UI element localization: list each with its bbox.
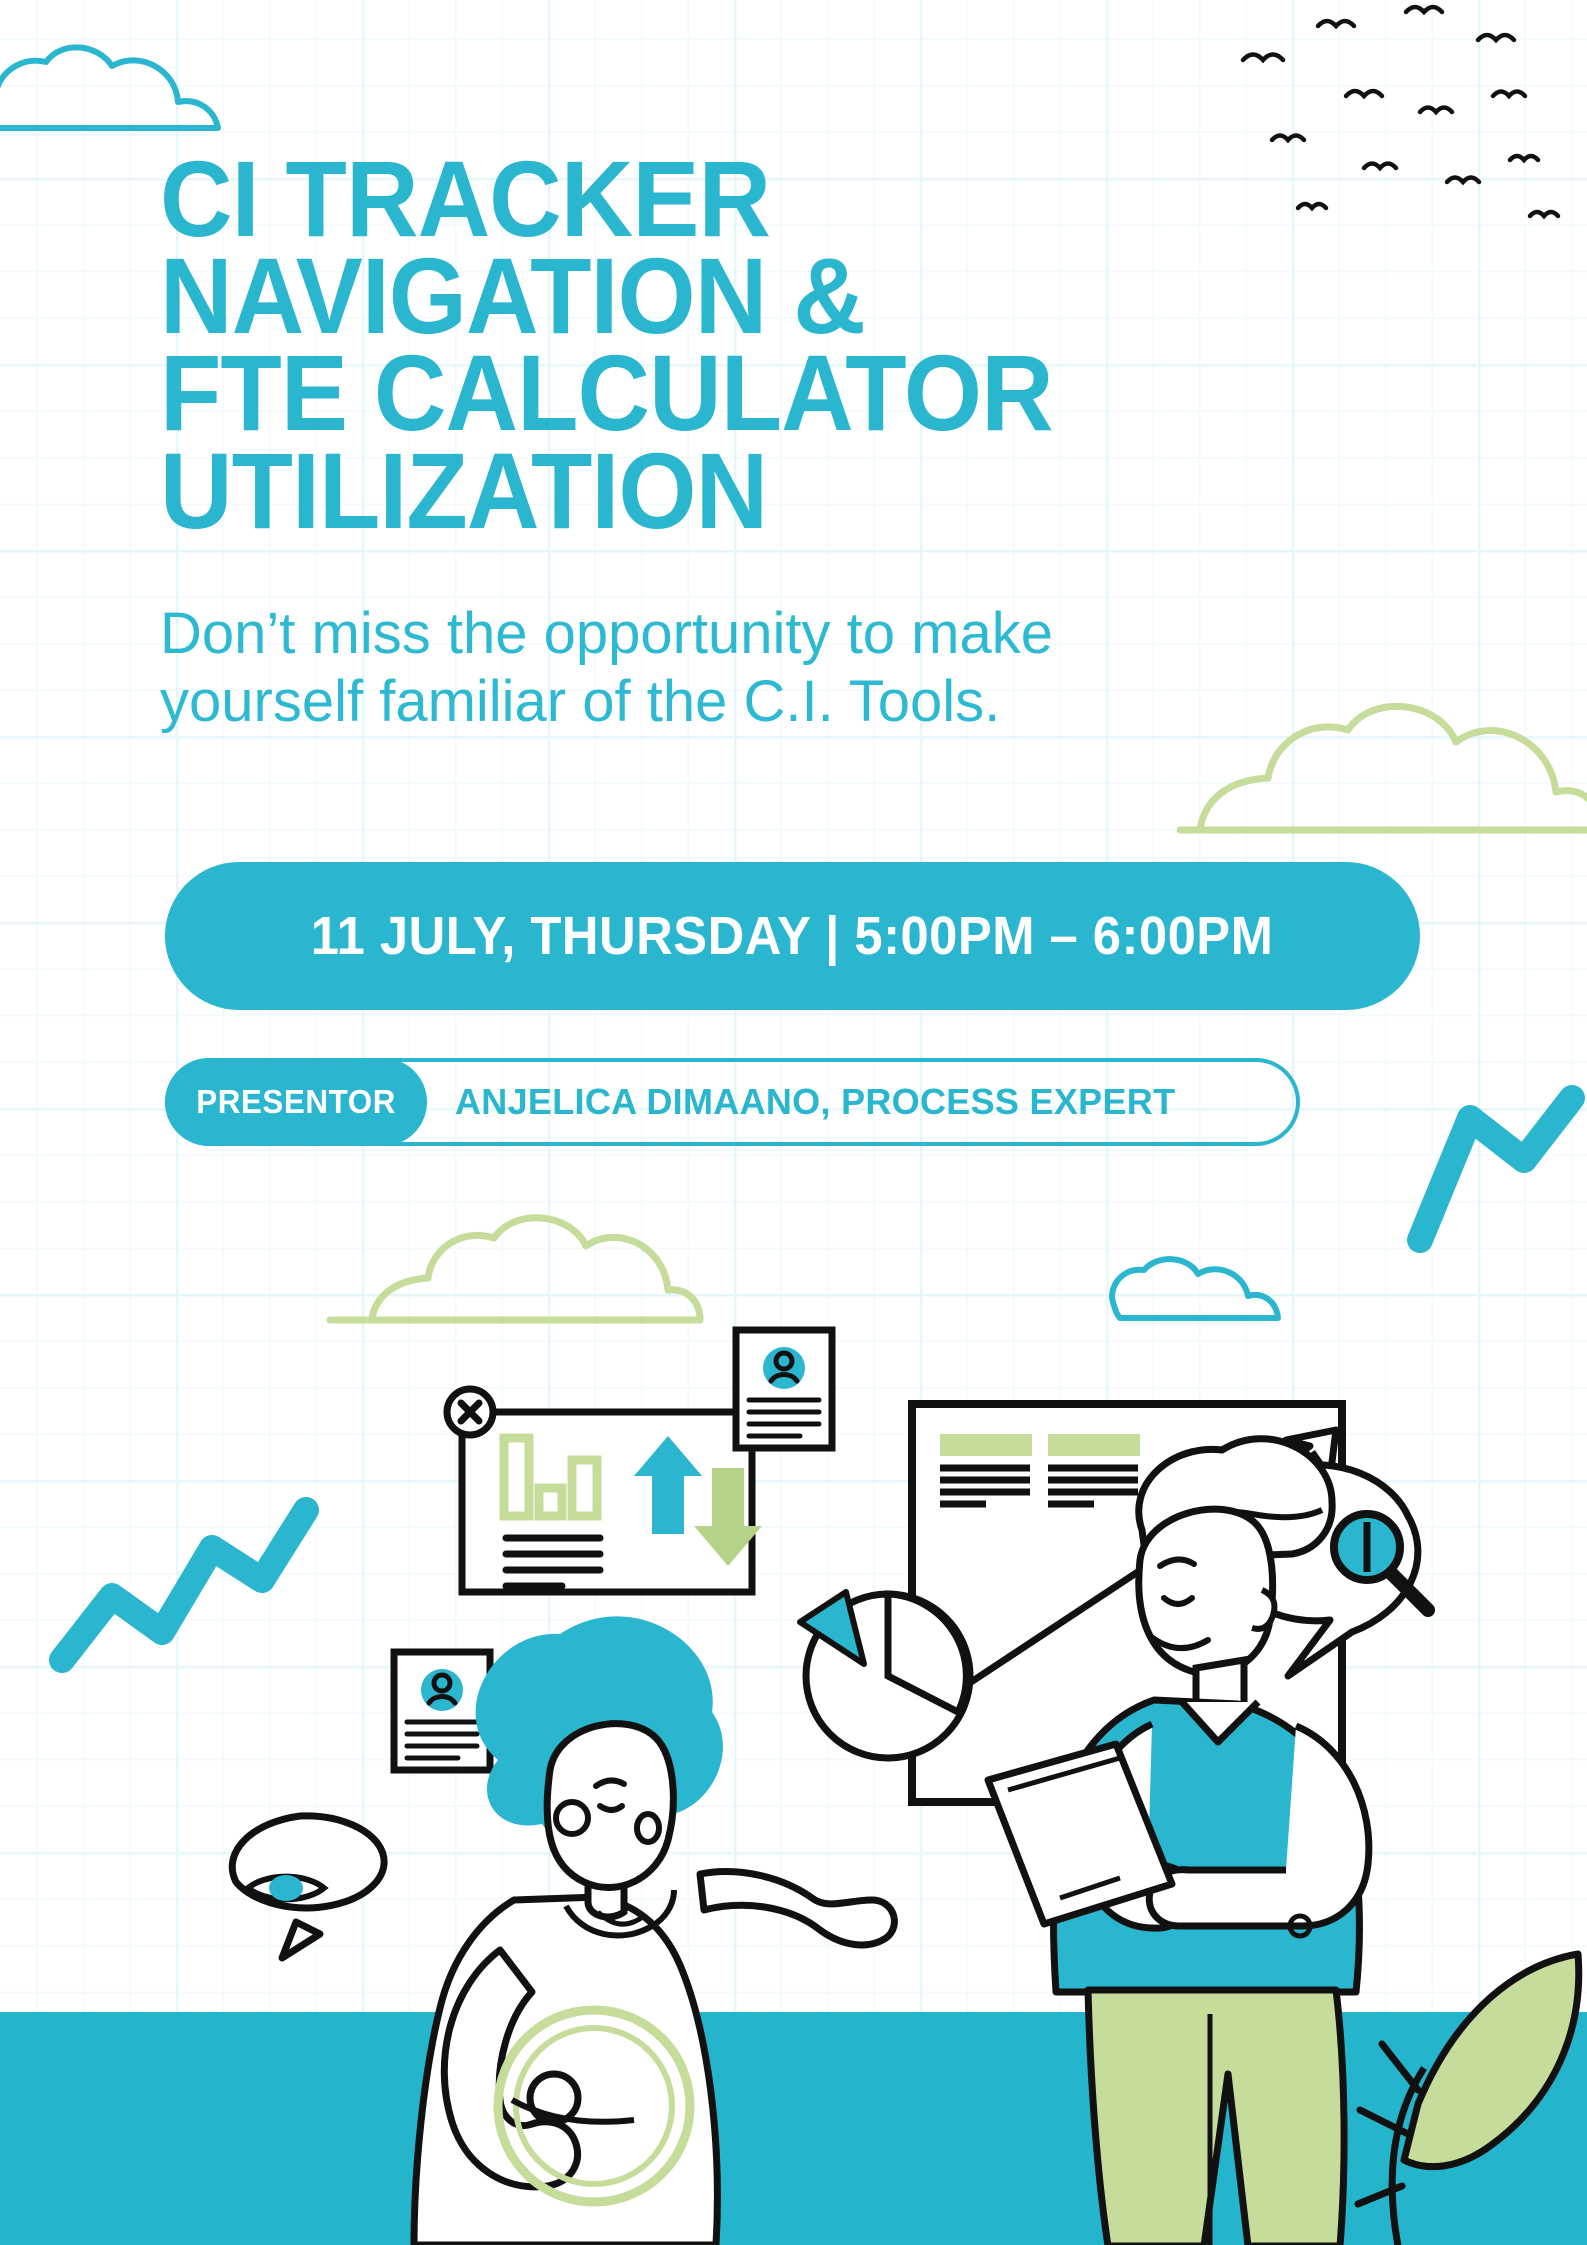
date-time-pill: 11 JULY, THURSDAY | 5:00PM – 6:00PM [165,862,1420,1010]
presenter-name-label: ANJELICA DIMAANO, PROCESS EXPERT [455,1081,1175,1123]
presenter-name-wrap: ANJELICA DIMAANO, PROCESS EXPERT [455,1058,1175,1146]
subtitle: Don’t miss the opportunity to make yours… [160,600,1340,737]
presenter-badge: PRESENTOR [165,1058,427,1146]
date-time-label: 11 JULY, THURSDAY | 5:00PM – 6:00PM [311,905,1274,967]
poster-canvas: CI TRACKER NAVIGATION & FTE CALCULATOR U… [0,0,1587,2245]
bottom-teal-band [0,2012,1587,2245]
page-title: CI TRACKER NAVIGATION & FTE CALCULATOR U… [160,150,1369,539]
presenter-badge-label: PRESENTOR [196,1083,396,1121]
